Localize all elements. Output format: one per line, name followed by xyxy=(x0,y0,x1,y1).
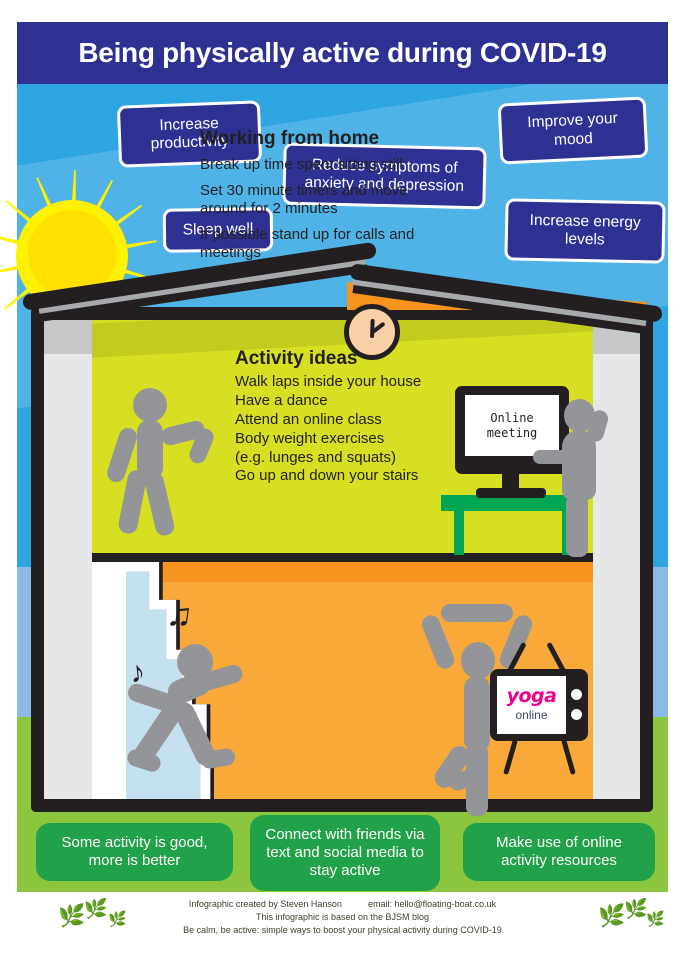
activity-ideas-line: Walk laps inside your house xyxy=(235,373,465,392)
callout-connect-friends: Connect with friends via text and social… xyxy=(250,815,440,891)
tv-screen-subtitle: online xyxy=(515,708,547,722)
house-base xyxy=(31,799,653,812)
benefit-bubble-label: Increase energy levels xyxy=(518,211,653,250)
benefit-bubble-label: Improve your mood xyxy=(511,109,635,151)
tv-knob-lower xyxy=(571,709,582,720)
activity-ideas-line: Go up and down your stairs xyxy=(235,467,465,486)
walking-figure-body xyxy=(137,420,163,480)
activity-ideas-line: Have a dance xyxy=(235,392,465,411)
benefit-bubble-mood: Improve your mood xyxy=(498,96,649,164)
activity-ideas-line: Attend an online class xyxy=(235,411,465,430)
music-note-double-icon: ♫ xyxy=(165,596,195,633)
standing-figure-body xyxy=(562,430,596,500)
yoga-figure-arms-overhead xyxy=(441,604,513,622)
footer: Infographic created by Steven Hanson ema… xyxy=(17,898,668,937)
walking-figure-head xyxy=(133,388,167,422)
callout-label: Some activity is good, more is better xyxy=(48,834,221,870)
tv-screen-title: yoga xyxy=(507,687,557,706)
activity-ideas-line: (e.g. lunges and squats) xyxy=(235,449,465,468)
tv-screen: yoga online xyxy=(497,676,566,734)
callout-some-activity: Some activity is good, more is better xyxy=(36,823,233,881)
activity-ideas-section: Activity ideas Walk laps inside your hou… xyxy=(235,348,465,486)
yoga-figure-body xyxy=(464,676,490,752)
monitor-screen: Online meeting xyxy=(465,395,559,456)
activity-ideas-line: Body weight exercises xyxy=(235,430,465,449)
tv-body: yoga online xyxy=(490,669,588,741)
footer-credit: Infographic created by Steven Hanson xyxy=(189,898,342,911)
standing-figure-leg xyxy=(566,495,588,557)
callout-label: Connect with friends via text and social… xyxy=(262,826,428,880)
working-from-home-line: Break up time spent sitting still xyxy=(200,156,440,173)
house-right-wall xyxy=(593,320,640,799)
title-bar: Being physically active during COVID-19 xyxy=(17,22,668,84)
callout-online-resources: Make use of online activity resources xyxy=(463,823,655,881)
working-from-home-section: Working from home Break up time spent si… xyxy=(200,128,440,270)
activity-ideas-heading: Activity ideas xyxy=(235,348,465,370)
floor-divider xyxy=(92,553,593,562)
music-note-single-icon: ♪ xyxy=(128,657,146,688)
television: yoga online xyxy=(490,669,588,741)
desk-leg-left xyxy=(454,511,464,555)
tv-knob-upper xyxy=(571,689,582,700)
infographic-poster: Being physically active during COVID-19 … xyxy=(0,0,685,960)
working-from-home-heading: Working from home xyxy=(200,128,440,150)
page-title: Being physically active during COVID-19 xyxy=(78,37,606,69)
monitor-screen-text: Online meeting xyxy=(487,411,538,441)
standing-figure-head xyxy=(564,399,595,432)
working-from-home-line: If possible stand up for calls and meeti… xyxy=(200,226,440,261)
footer-email: email: hello@floating-boat.co.uk xyxy=(368,898,496,911)
footer-source: This infographic is based on the BJSM bl… xyxy=(17,911,668,924)
footer-tagline: Be calm, be active: simple ways to boost… xyxy=(17,924,668,937)
callout-label: Make use of online activity resources xyxy=(475,834,643,870)
house-left-wall xyxy=(44,320,92,799)
monitor-base xyxy=(476,488,546,498)
working-from-home-line: Set 30 minute timers and move around for… xyxy=(200,182,440,217)
